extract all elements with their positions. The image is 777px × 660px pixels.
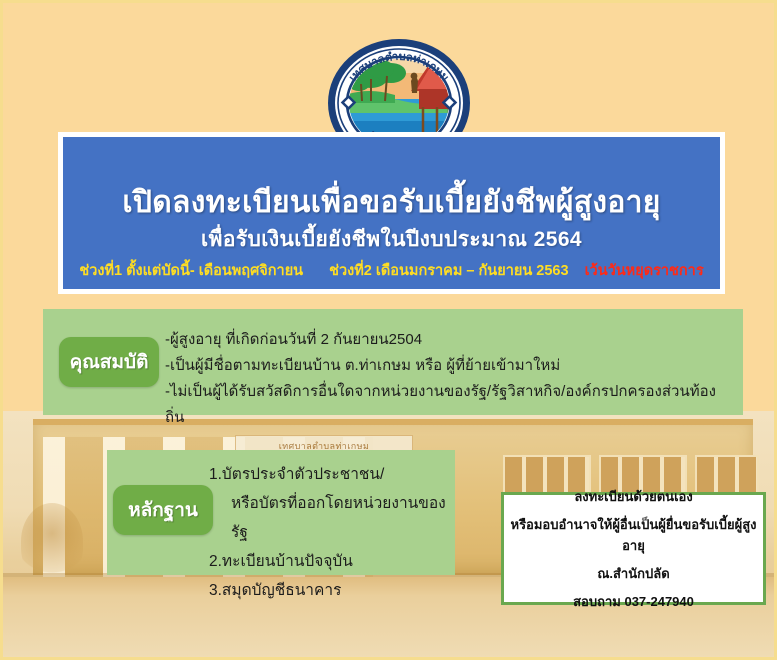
headline-banner: เปิดลงทะเบียนเพื่อขอรับเบี้ยยังชีพผู้สูง… <box>58 132 725 294</box>
contact-line: ลงทะเบียนด้วยตนเอง <box>574 486 692 507</box>
document-item: 1.บัตรประจำตัวประชาชน/ <box>209 460 449 489</box>
qualification-item: -ผู้สูงอายุ ที่เกิดก่อนวันที่ 2 กันยายน2… <box>165 327 735 353</box>
poster-title: เปิดลงทะเบียนเพื่อขอรับเบี้ยยังชีพผู้สูง… <box>63 179 720 226</box>
documents-section: หลักฐาน 1.บัตรประจำตัวประชาชน/ หรือบัตรท… <box>107 450 455 575</box>
period-2-text: ช่วงที่2 เดือนมกราคม – กันยายน 2563 <box>329 263 568 279</box>
qualification-item: -ไม่เป็นผู้ได้รับสวัสดิการอื่นใดจากหน่วย… <box>165 379 735 431</box>
poster-root: เทศบาลตำบลท่าเกษม <box>0 0 777 660</box>
qualifications-list: -ผู้สูงอายุ ที่เกิดก่อนวันที่ 2 กันยายน2… <box>165 327 735 431</box>
photo-tree <box>21 503 83 579</box>
period-1-text: ช่วงที่1 ตั้งแต่บัดนี้- เดือนพฤศจิกายน <box>79 263 303 279</box>
qualifications-section: คุณสมบัติ -ผู้สูงอายุ ที่เกิดก่อนวันที่ … <box>43 309 743 415</box>
contact-line: ณ.สำนักปลัด <box>597 563 669 584</box>
contact-info-box: ลงทะเบียนด้วยตนเอง หรือมอบอำนาจให้ผู้อื่… <box>501 492 766 605</box>
documents-list: 1.บัตรประจำตัวประชาชน/ หรือบัตรที่ออกโดย… <box>209 460 449 605</box>
document-item: 3.สมุดบัญชีธนาคาร <box>209 576 449 605</box>
document-item: 2.ทะเบียนบ้านปัจจุบัน <box>209 547 449 576</box>
registration-periods: ช่วงที่1 ตั้งแต่บัดนี้- เดือนพฤศจิกายน ช… <box>63 259 720 282</box>
poster-subtitle: เพื่อรับเงินเบี้ยยังชีพในปีงบประมาณ 2564 <box>63 223 720 256</box>
contact-phone: สอบถาม 037-247940 <box>573 591 694 612</box>
holiday-note: เว้นวันหยุดราชการ <box>585 263 704 279</box>
documents-label: หลักฐาน <box>113 485 213 535</box>
qualification-item: -เป็นผู้มีชื่อตามทะเบียนบ้าน ต.ท่าเกษม ห… <box>165 353 735 379</box>
qualifications-label: คุณสมบัติ <box>59 337 159 387</box>
document-item-continuation: หรือบัตรที่ออกโดยหน่วยงานของรัฐ <box>209 489 449 547</box>
contact-line: หรือมอบอำนาจให้ผู้อื่นเป็นผู้ยื่นขอรับเบ… <box>510 514 757 556</box>
